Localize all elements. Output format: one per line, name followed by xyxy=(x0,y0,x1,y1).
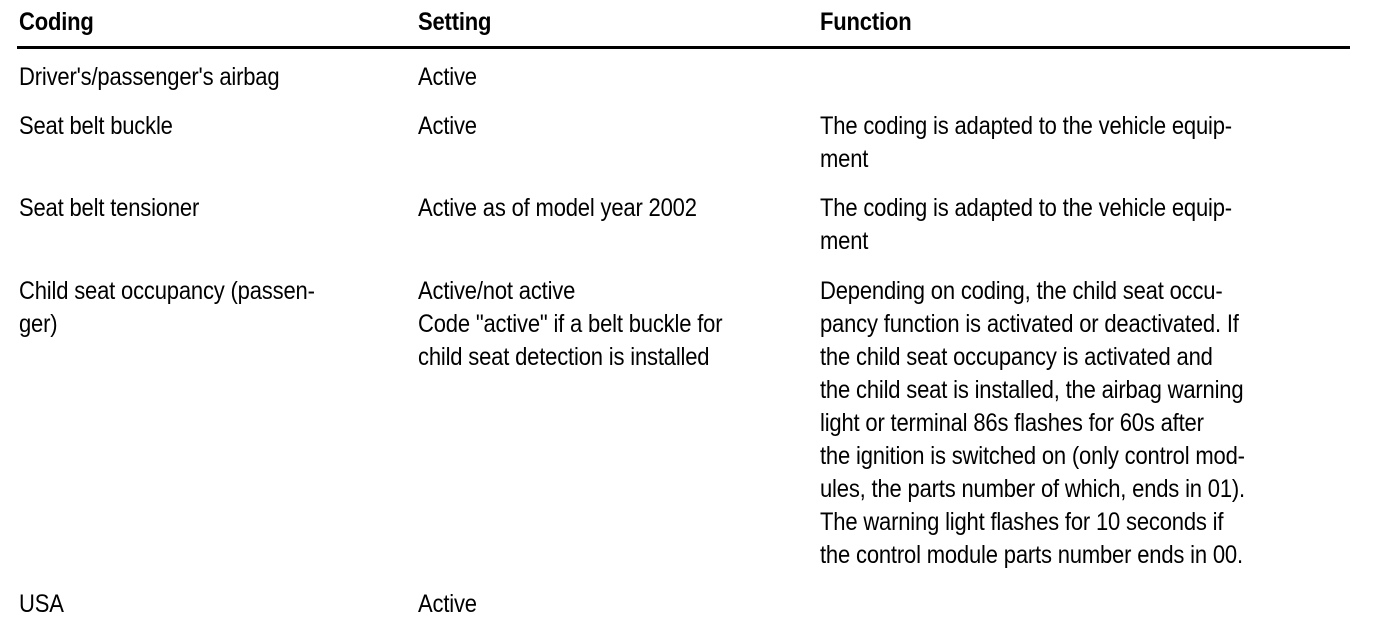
table-row: Depending on coding, the child seat occu… xyxy=(820,275,1288,572)
table-row: Active xyxy=(418,110,766,143)
table-row: Active/not active Code "active" if a bel… xyxy=(418,275,766,374)
column-header-coding: Coding xyxy=(19,6,364,39)
column-header-setting: Setting xyxy=(418,6,766,39)
table-row: USA xyxy=(19,588,364,621)
table-row: Driver's/passenger's airbag xyxy=(19,61,364,94)
header-divider-rule xyxy=(17,46,1350,49)
table-row: Active xyxy=(418,588,766,621)
table-row: Active as of model year 2002 xyxy=(418,192,766,225)
column-header-function: Function xyxy=(820,6,1288,39)
table-row: Child seat occupancy (passen- ger) xyxy=(19,275,364,341)
table-row: Seat belt tensioner xyxy=(19,192,364,225)
table-row: The coding is adapted to the vehicle equ… xyxy=(820,110,1288,176)
coding-table-document: Coding Setting Function Driver's/passeng… xyxy=(0,0,1392,626)
table-row: Seat belt buckle xyxy=(19,110,364,143)
table-row: Active xyxy=(418,61,766,94)
table-row: The coding is adapted to the vehicle equ… xyxy=(820,192,1288,258)
